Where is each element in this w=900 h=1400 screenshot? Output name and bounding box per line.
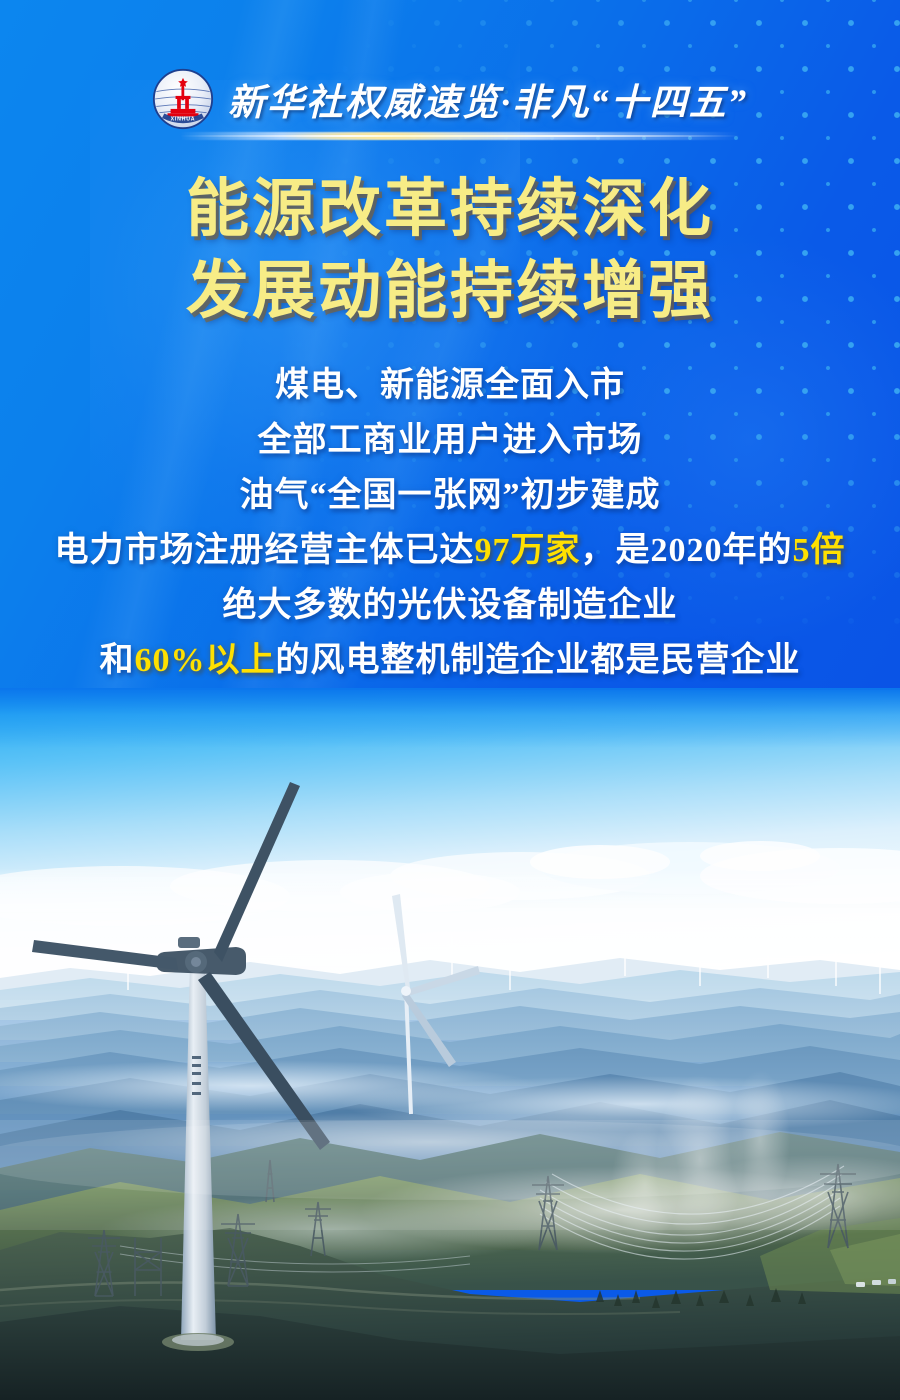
body-line-4-highlight-1: 97万家 xyxy=(475,532,581,569)
body-line-3: 油气“全国一张网”初步建成 xyxy=(0,468,900,523)
body-line-2: 全部工商业用户进入市场 xyxy=(0,413,900,468)
body-line-6: 和60%以上的风电整机制造企业都是民营企业 xyxy=(0,633,900,688)
header-title: 新华社权威速览·非凡“十四五” xyxy=(228,72,748,126)
body-line-1: 煤电、新能源全面入市 xyxy=(0,358,900,413)
xinhua-agency-logo-icon: XINHUA xyxy=(152,68,214,130)
body-line-6-highlight: 60%以上 xyxy=(135,642,276,679)
body-line-4-text-a: 电力市场注册经营主体已达 xyxy=(55,532,475,569)
body-line-4-text-b: ，是2020年的 xyxy=(581,532,793,569)
main-title-line-2: 发展动能持续增强 xyxy=(0,250,900,332)
wind-farm-landscape-photo xyxy=(0,690,900,1400)
body-line-6-text-a: 和 xyxy=(100,642,135,679)
header: XINHUA 新华社权威速览·非凡“十四五” xyxy=(0,62,900,136)
body-line-5: 绝大多数的光伏设备制造企业 xyxy=(0,578,900,633)
main-title: 能源改革持续深化 发展动能持续增强 xyxy=(0,168,900,332)
svg-text:XINHUA: XINHUA xyxy=(171,117,196,123)
body-line-4-highlight-2: 5倍 xyxy=(793,532,846,569)
photo-top-fade xyxy=(0,688,900,748)
body-line-4: 电力市场注册经营主体已达97万家，是2020年的5倍 xyxy=(0,523,900,578)
poster-root: XINHUA 新华社权威速览·非凡“十四五” 能源改革持续深化 发展动能持续增强… xyxy=(0,0,900,1400)
body-text: 煤电、新能源全面入市 全部工商业用户进入市场 油气“全国一张网”初步建成 电力市… xyxy=(0,358,900,688)
body-line-6-text-b: 的风电整机制造企业都是民营企业 xyxy=(276,642,801,679)
main-title-line-1: 能源改革持续深化 xyxy=(0,168,900,250)
